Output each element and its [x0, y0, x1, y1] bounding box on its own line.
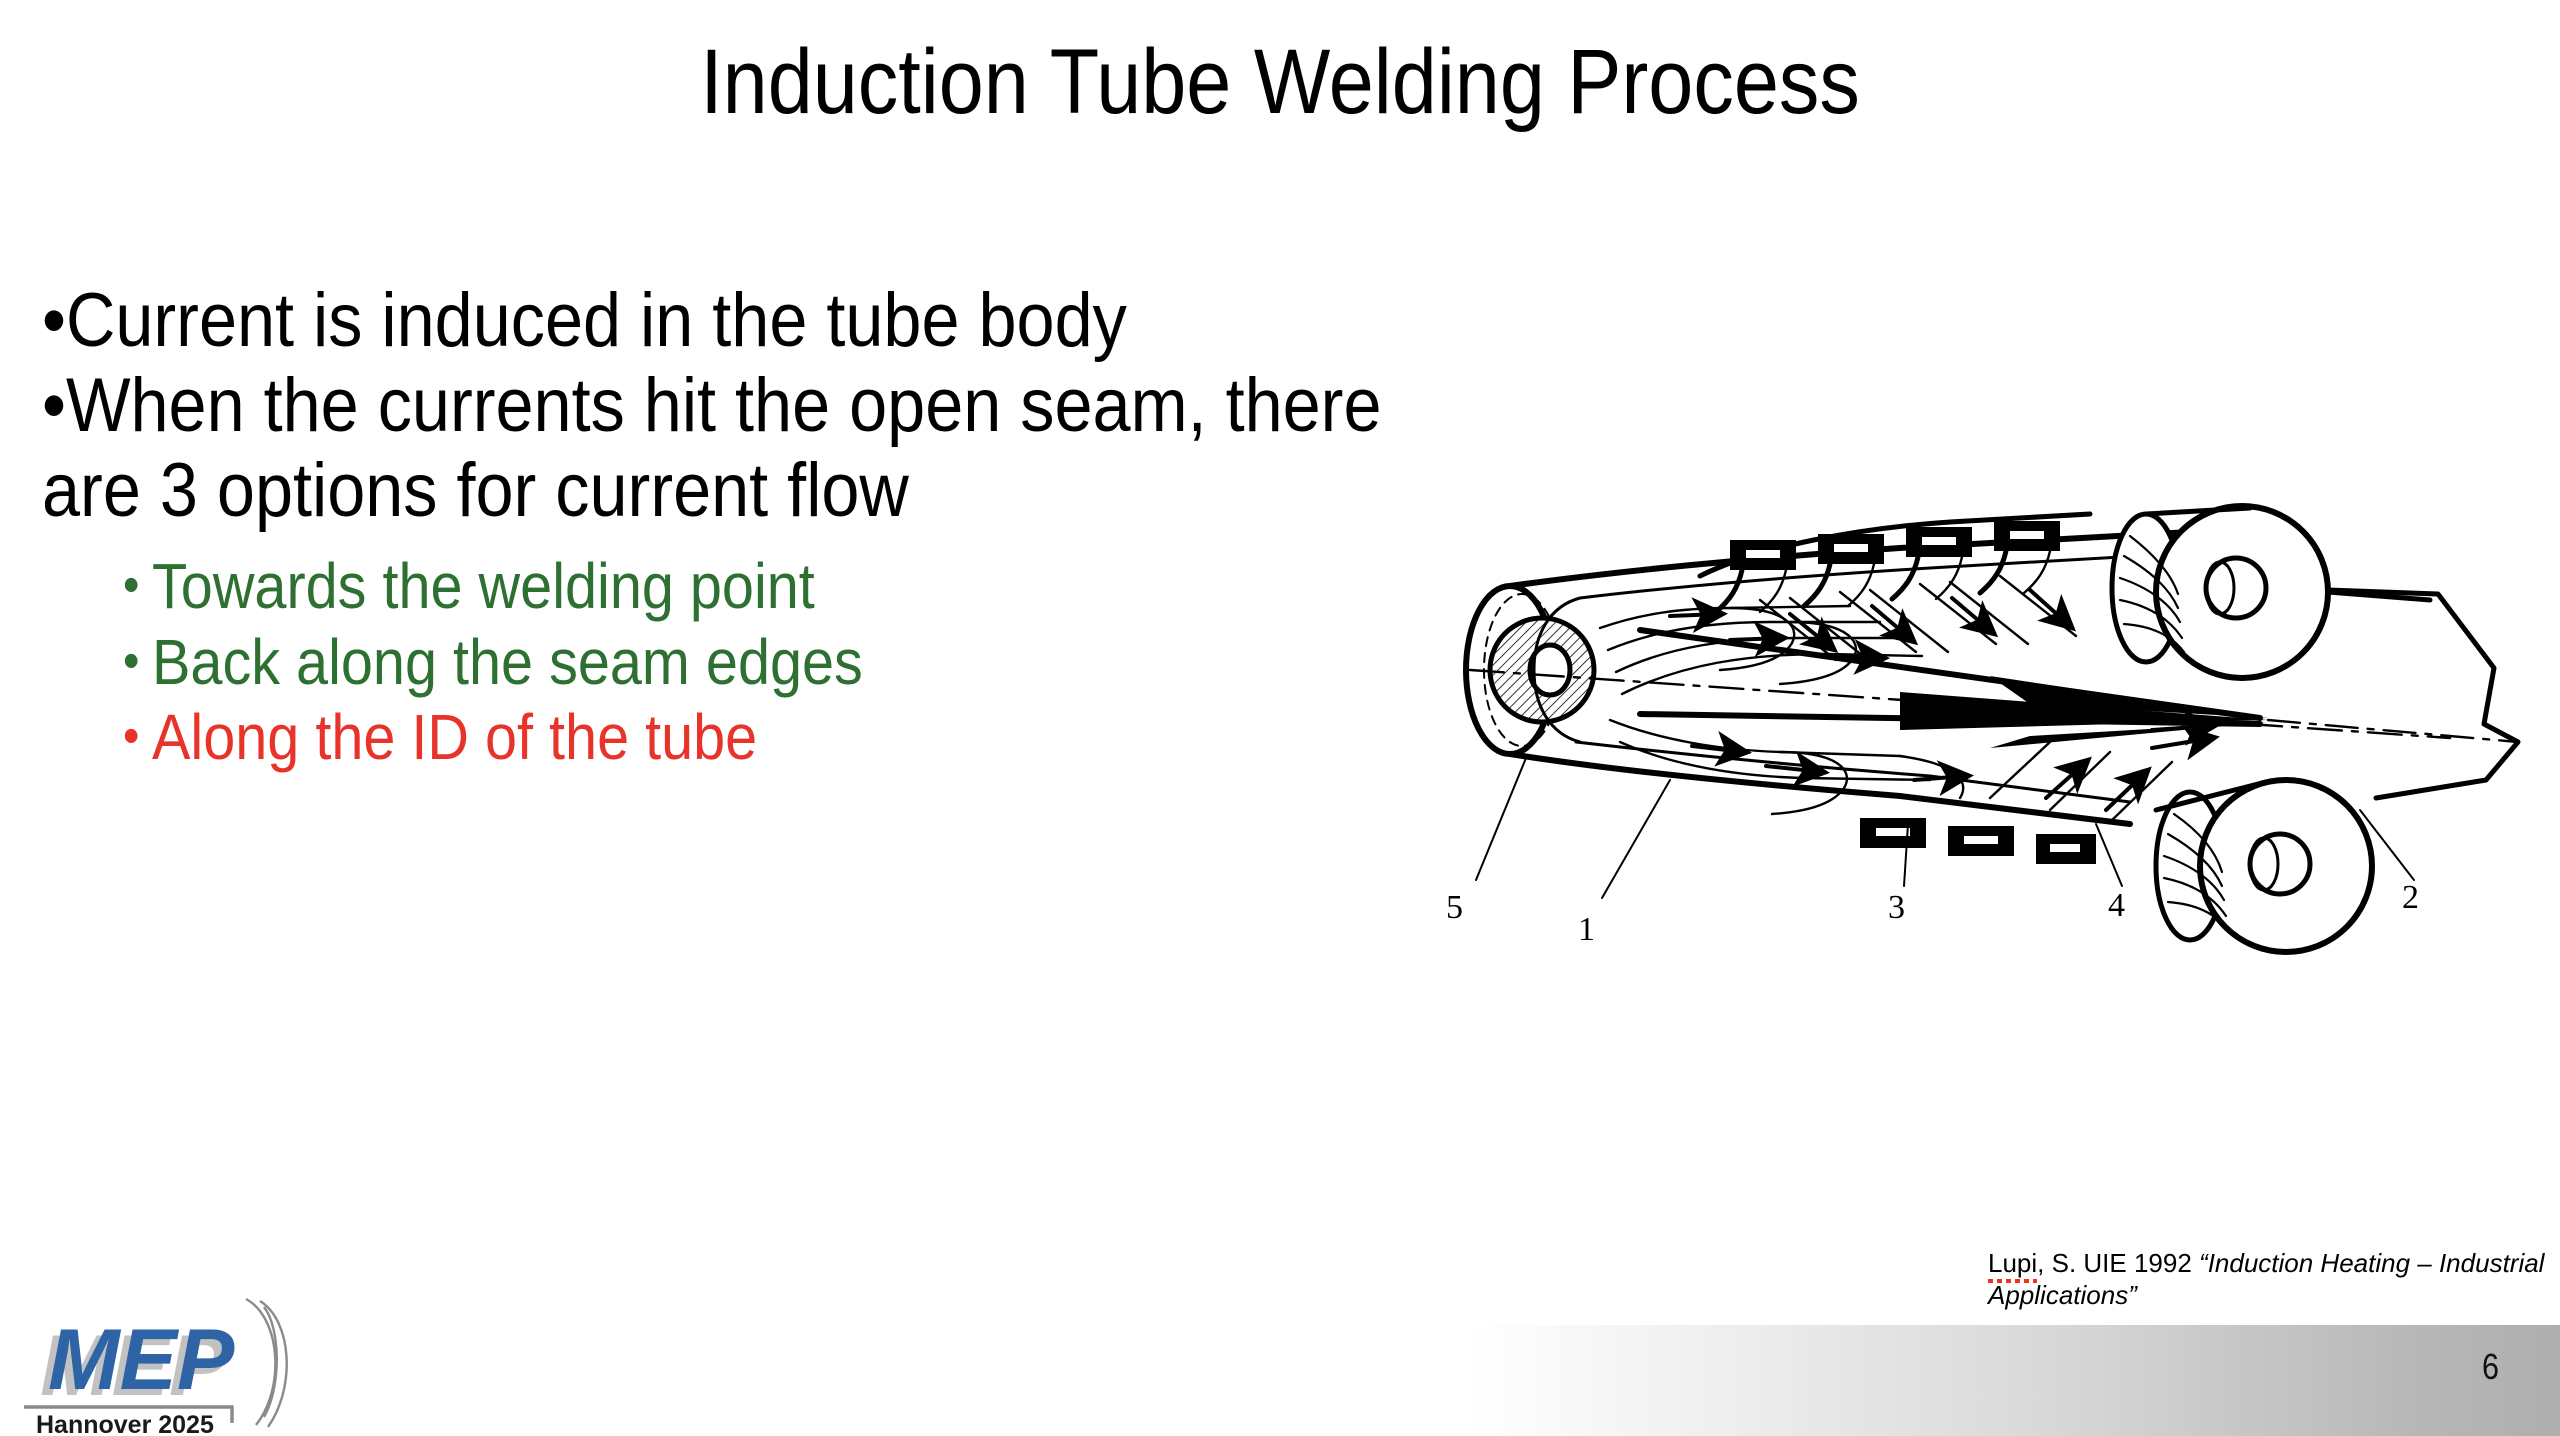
- source-citation: Lupi, S. UIE 1992 “Induction Heating – I…: [1988, 1248, 2560, 1311]
- list-item: •Back along the seam edges: [123, 625, 1536, 701]
- logo-wordmark: MEP: [48, 1312, 235, 1408]
- list-item: •When the currents hit the open seam, th…: [42, 363, 1455, 533]
- induction-welding-diagram: 5 1 3 4 2: [1430, 480, 2550, 1020]
- bullet-marker-icon: •: [123, 556, 152, 614]
- list-item-label: Back along the seam edges: [152, 626, 863, 698]
- citation-reference: , S. UIE 1992: [2037, 1248, 2199, 1278]
- diagram-callout-5: 5: [1446, 889, 1463, 926]
- bullet-marker-icon: •: [123, 707, 152, 765]
- bullet-list-level2: •Towards the welding point •Back along t…: [42, 549, 1536, 776]
- page-title: Induction Tube Welding Process: [154, 34, 2407, 131]
- footer-gradient-band: [1470, 1325, 2560, 1436]
- mep-logo: MEP MEP Hannover 2025: [18, 1283, 298, 1436]
- logo-subtitle: Hannover 2025: [36, 1411, 214, 1436]
- diagram-callout-2: 2: [2402, 879, 2419, 916]
- page-number: 6: [2482, 1346, 2499, 1388]
- list-item-label: Along the ID of the tube: [152, 701, 757, 773]
- diagram-callout-1: 1: [1578, 911, 1595, 948]
- diagram-callout-3: 3: [1888, 889, 1905, 926]
- bullet-marker-icon: •: [42, 363, 66, 448]
- bullet-marker-icon: •: [123, 632, 152, 690]
- slide-canvas: Induction Tube Welding Process •Current …: [0, 0, 2560, 1436]
- body-content: •Current is induced in the tube body •Wh…: [42, 278, 1462, 776]
- diagram-callout-4: 4: [2108, 887, 2125, 924]
- citation-author: Lupi: [1988, 1248, 2037, 1280]
- bullet-list-level1: •Current is induced in the tube body •Wh…: [42, 278, 1455, 533]
- list-item-label: Current is induced in the tube body: [66, 278, 1127, 363]
- bullet-marker-icon: •: [42, 278, 66, 363]
- list-item: •Along the ID of the tube: [123, 700, 1536, 776]
- list-item-label: Towards the welding point: [152, 550, 815, 622]
- list-item: •Towards the welding point: [123, 549, 1536, 625]
- list-item: •Current is induced in the tube body: [42, 278, 1455, 363]
- list-item-label: When the currents hit the open seam, the…: [42, 363, 1381, 533]
